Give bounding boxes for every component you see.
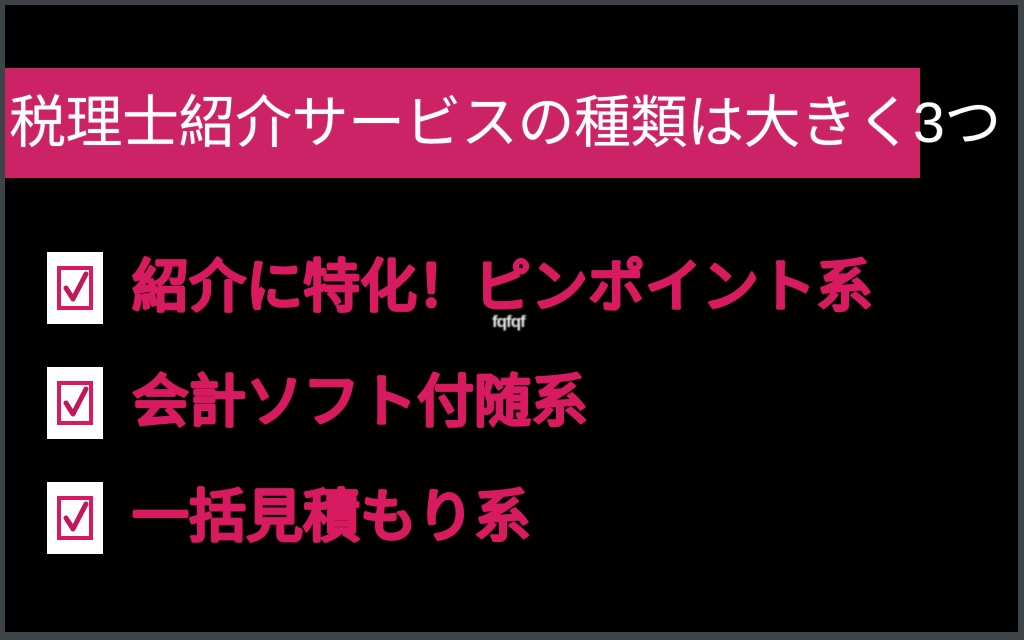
page-title: 税理士紹介サービスの種類は大きく3つ: [5, 95, 1001, 152]
checkbox-checked-icon: [47, 367, 103, 439]
header-banner: 税理士紹介サービスの種類は大きく3つ: [5, 68, 920, 178]
list-item-label: 一括見積もり系: [132, 489, 531, 546]
list-item: 一括見積もり系: [5, 460, 1018, 575]
slide-canvas: 税理士紹介サービスの種類は大きく3つ 紹介に特化！ピンポイント系: [5, 5, 1018, 632]
list-item: 会計ソフト付随系: [5, 345, 1018, 460]
slide-frame: 税理士紹介サービスの種類は大きく3つ 紹介に特化！ピンポイント系: [0, 0, 1024, 640]
checkbox-checked-icon: [47, 252, 103, 324]
bullet-list: 紹介に特化！ピンポイント系 会計ソフト付随系: [5, 230, 1018, 575]
list-item-label: 紹介に特化！ピンポイント系: [132, 259, 873, 316]
render-artifact-text: fqfqf: [492, 313, 525, 330]
checkbox-checked-icon: [47, 482, 103, 554]
list-item-label: 会計ソフト付随系: [132, 374, 588, 431]
